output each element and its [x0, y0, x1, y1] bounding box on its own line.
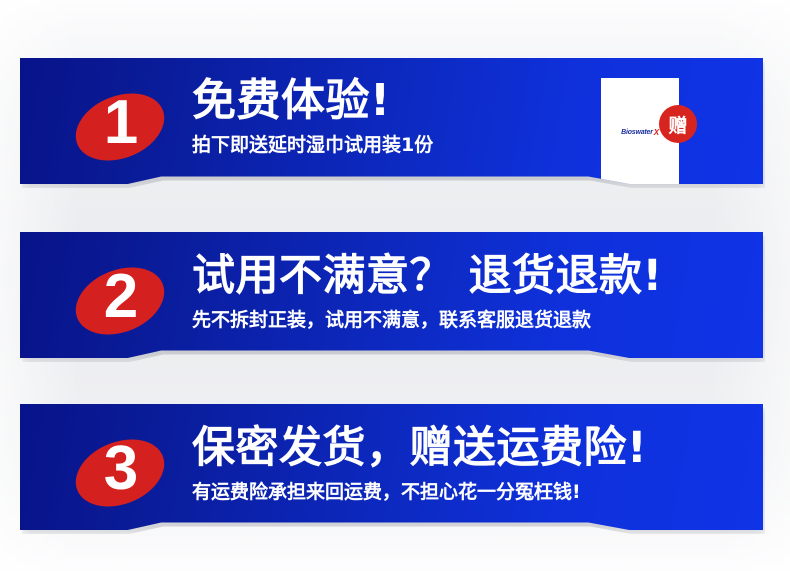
banner-headline: 试用不满意？ 退货退款!	[192, 252, 732, 300]
brand-logo-text: Bioswater	[621, 129, 653, 136]
banner-subline: 有运费险承担来回运费，不担心花一分冤枉钱!	[192, 480, 732, 505]
banner-headline: 保密发货，赠送运费险!	[192, 424, 732, 472]
banner-text-block-2: 试用不满意？ 退货退款! 先不拆封正装，试用不满意，联系客服退货退款	[192, 252, 732, 333]
promo-banner-1[interactable]: 1 免费体验! 拍下即送延时湿巾试用装1份 BioswaterX 赠	[20, 58, 763, 184]
gift-badge-icon: 赠	[659, 105, 697, 143]
banner-subline: 先不拆封正装，试用不满意，联系客服退货退款	[192, 308, 732, 333]
banner-body: 1 免费体验! 拍下即送延时湿巾试用装1份 BioswaterX 赠	[20, 58, 763, 184]
step-number-label: 3	[66, 426, 176, 512]
step-number-label: 2	[66, 254, 176, 340]
banner-text-block-3: 保密发货，赠送运费险! 有运费险承担来回运费，不担心花一分冤枉钱!	[192, 424, 732, 505]
banner-body: 2 试用不满意？ 退货退款! 先不拆封正装，试用不满意，联系客服退货退款	[20, 232, 763, 358]
banner-body: 3 保密发货，赠送运费险! 有运费险承担来回运费，不担心花一分冤枉钱!	[20, 404, 763, 530]
step-number-badge-3: 3	[66, 426, 176, 512]
step-number-label: 1	[66, 80, 176, 166]
promo-banner-3[interactable]: 3 保密发货，赠送运费险! 有运费险承担来回运费，不担心花一分冤枉钱!	[20, 404, 763, 530]
promo-banner-2[interactable]: 2 试用不满意？ 退货退款! 先不拆封正装，试用不满意，联系客服退货退款	[20, 232, 763, 358]
step-number-badge-2: 2	[66, 254, 176, 340]
brand-logo-mark: X	[654, 128, 659, 137]
promo-page: 1 免费体验! 拍下即送延时湿巾试用装1份 BioswaterX 赠 2 试	[0, 0, 790, 571]
step-number-badge-1: 1	[66, 80, 176, 166]
